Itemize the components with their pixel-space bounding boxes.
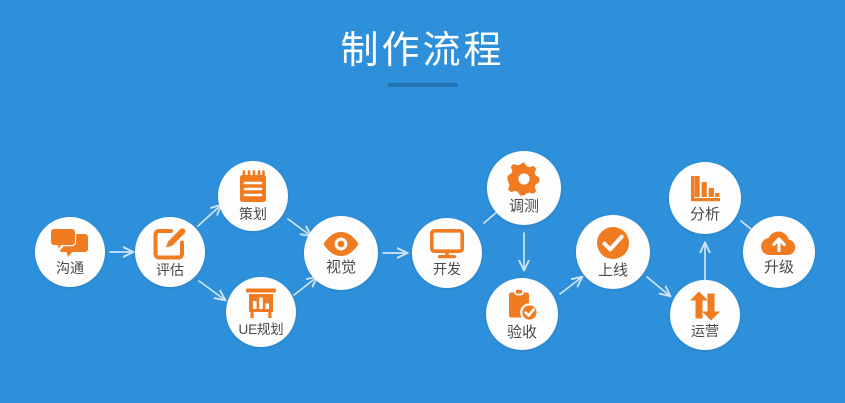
flow-node-planning[interactable]: 策划 bbox=[218, 161, 288, 231]
bar-chart-icon bbox=[689, 174, 721, 204]
flow-node-ue-planning[interactable]: UE规划 bbox=[226, 277, 296, 347]
notepad-icon bbox=[237, 170, 269, 204]
flow-node-operation[interactable]: 运营 bbox=[670, 280, 740, 350]
flow-node-label: 开发 bbox=[433, 261, 461, 278]
pencil-square-icon bbox=[153, 226, 187, 260]
flow-node-analysis[interactable]: 分析 bbox=[669, 162, 741, 234]
gear-icon bbox=[507, 162, 541, 196]
flow-node-layer: 沟通 评估 策划 UE规划 bbox=[0, 0, 845, 403]
flow-node-label: 调测 bbox=[509, 198, 539, 215]
flow-node-evaluation[interactable]: 评估 bbox=[135, 217, 205, 287]
flow-node-communication[interactable]: 沟通 bbox=[35, 217, 105, 287]
slide-canvas: 制作流程 沟通 评估 bbox=[0, 0, 845, 403]
flow-node-acceptance[interactable]: 验收 bbox=[486, 278, 558, 350]
flow-node-label: 沟通 bbox=[56, 260, 84, 277]
check-circle-icon bbox=[596, 226, 630, 260]
flow-node-golive[interactable]: 上线 bbox=[576, 215, 650, 289]
bar-chart-board-icon bbox=[244, 287, 278, 319]
flow-node-visual[interactable]: 视觉 bbox=[304, 216, 378, 290]
flow-node-label: 评估 bbox=[156, 262, 184, 279]
monitor-icon bbox=[430, 229, 464, 259]
flow-node-upgrade[interactable]: 升级 bbox=[743, 216, 815, 288]
flow-node-debugging[interactable]: 调测 bbox=[487, 151, 561, 225]
flow-node-label: 视觉 bbox=[326, 259, 356, 276]
cloud-upload-icon bbox=[760, 229, 798, 257]
flow-node-label: 上线 bbox=[598, 262, 628, 279]
flow-node-label: 运营 bbox=[691, 323, 719, 340]
chat-bubbles-icon bbox=[50, 228, 90, 258]
eye-icon bbox=[322, 231, 360, 257]
clipboard-check-icon bbox=[505, 288, 539, 322]
flow-node-label: 策划 bbox=[239, 206, 267, 223]
flow-node-label: 验收 bbox=[507, 324, 537, 341]
flow-node-label: UE规划 bbox=[239, 321, 284, 338]
flow-node-label: 分析 bbox=[690, 206, 720, 223]
flow-node-label: 升级 bbox=[764, 259, 794, 276]
flow-node-development[interactable]: 开发 bbox=[412, 218, 482, 288]
retweet-icon bbox=[688, 291, 722, 321]
